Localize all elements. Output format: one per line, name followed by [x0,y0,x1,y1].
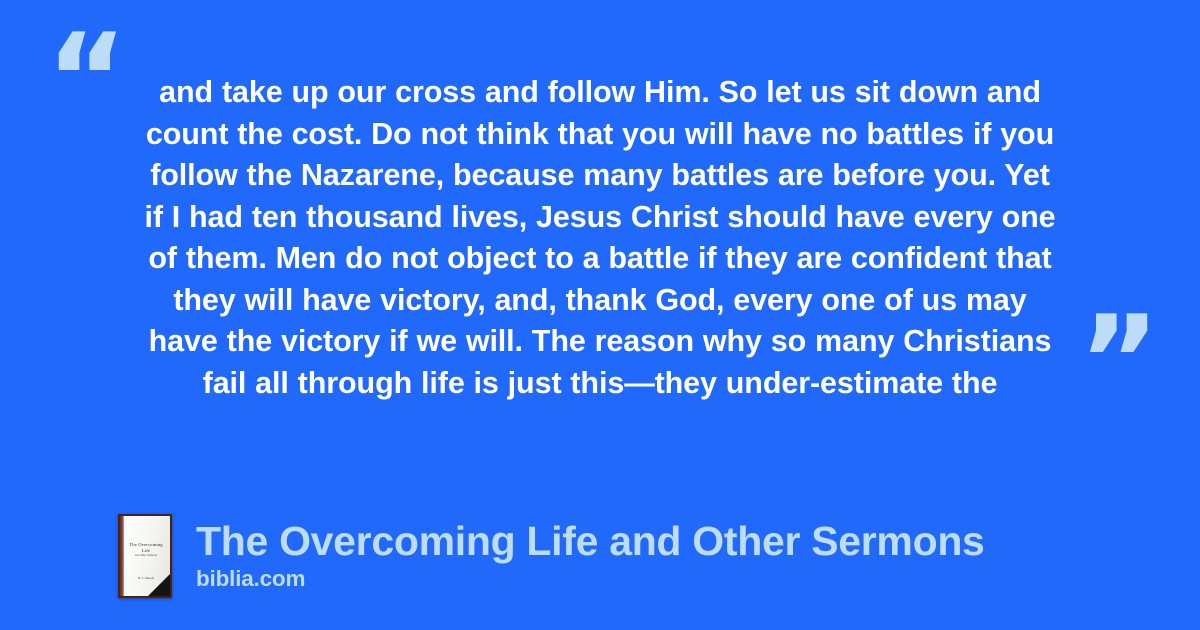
site-name: biblia.com [196,567,985,592]
page-curl-icon [148,574,170,596]
quote-line: of them. Men do not object to a battle i… [120,238,1080,280]
quote-line: fail all through life is just this—they … [120,363,1080,405]
quote-line: follow the Nazarene, because many battle… [120,155,1080,197]
closing-quote-icon: ” [1079,300,1161,424]
quote-text: and take up our cross and follow Him. So… [120,72,1080,404]
book-title: The Overcoming Life and Other Sermons [196,520,985,563]
book-cover-title: The Overcoming Life [126,542,166,553]
book-cover-thumbnail: The Overcoming Life and Other Sermons D.… [118,514,172,598]
quote-card: “ and take up our cross and follow Him. … [0,0,1200,630]
footer-attribution: The Overcoming Life and Other Sermons D.… [118,514,985,598]
quote-line: if I had ten thousand lives, Jesus Chris… [120,197,1080,239]
footer-text-block: The Overcoming Life and Other Sermons bi… [196,520,985,592]
quote-line: count the cost. Do not think that you wi… [120,114,1080,156]
quote-container: and take up our cross and follow Him. So… [110,72,1090,422]
quote-line: have the victory if we will. The reason … [120,321,1080,363]
book-cover-subtitle: and Other Sermons [126,554,166,558]
quote-line: they will have victory, and, thank God, … [120,280,1080,322]
book-spine [120,516,124,596]
quote-line: and take up our cross and follow Him. So… [120,72,1080,114]
